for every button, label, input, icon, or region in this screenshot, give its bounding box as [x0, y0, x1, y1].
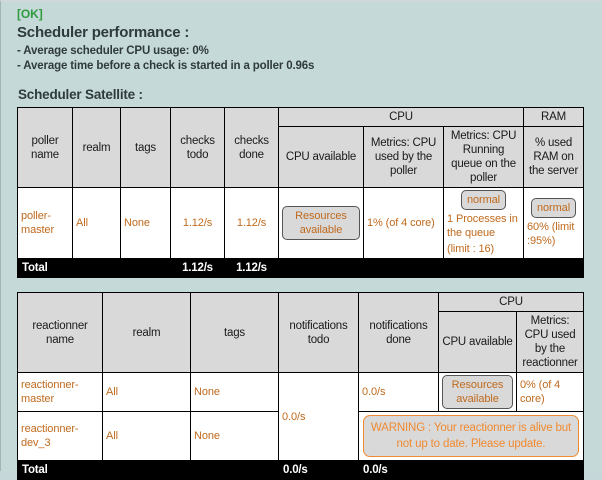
col-poller-name: poller name: [18, 108, 73, 188]
cell-ram-used: normal 60% (limit :95%): [524, 188, 584, 259]
cell-realm: All: [73, 188, 121, 259]
cell-tags: None: [121, 188, 171, 259]
cell-cpu-used: 1% (of 4 core): [364, 188, 444, 259]
table-total-row: Total 1.12/s 1.12/s: [18, 259, 584, 278]
total-realm-blank: [73, 259, 121, 278]
col-cpu-used-by-reactionner: Metrics: CPU used by the reactionner: [517, 312, 584, 373]
col-checks-done: checks done: [225, 108, 279, 188]
col-tags: tags: [121, 108, 171, 188]
cell-cpu-used: 0% (of 4 core): [517, 373, 584, 412]
col-realm: realm: [73, 108, 121, 188]
table-header-group-row: poller name realm tags checks todo check…: [18, 108, 584, 127]
total-ram-blank: [524, 259, 584, 278]
cell-cpu-available: Resources available: [279, 188, 364, 259]
col-realm: realm: [103, 293, 191, 373]
cpu-available-badge[interactable]: Resources available: [442, 375, 513, 409]
page-content: [OK] Scheduler performance : - Average s…: [1, 2, 602, 480]
total-tags-blank: [191, 461, 279, 480]
cell-checks-todo: 1.12/s: [171, 188, 225, 259]
total-cpu-available-blank: [279, 259, 364, 278]
total-checks-done: 1.12/s: [225, 259, 279, 278]
total-cpu-used-blank: [517, 461, 584, 480]
col-cpu-available: CPU available: [439, 312, 517, 373]
cell-cpu-available: Resources available: [439, 373, 517, 412]
total-tags-blank: [121, 259, 171, 278]
total-notifications-done: 0.0/s: [359, 461, 439, 480]
col-cpu-available: CPU available: [279, 127, 364, 188]
total-label: Total: [18, 461, 103, 480]
scheduler-line-avg-time: - Average time before a check is started…: [17, 59, 596, 74]
ram-used-text: 60% (limit :95%): [527, 220, 580, 248]
cell-realm: All: [103, 373, 191, 412]
satellite-section-title: Scheduler Satellite :: [18, 86, 596, 103]
scheduler-line-cpu-usage: - Average scheduler CPU usage: 0%: [17, 44, 596, 59]
col-checks-todo: checks todo: [171, 108, 225, 188]
group-col-cpu: CPU: [439, 293, 584, 312]
cell-notifications-todo: 0.0/s: [279, 373, 359, 461]
col-tags: tags: [191, 293, 279, 373]
table-row: poller-master All None 1.12/s 1.12/s Res…: [18, 188, 584, 259]
status-badge: [OK]: [17, 7, 596, 22]
cpu-available-badge[interactable]: Resources available: [282, 206, 360, 240]
cell-checks-done: 1.12/s: [225, 188, 279, 259]
cell-reactionner-name: reactionner-master: [18, 373, 103, 412]
col-notifications-todo: notifications todo: [279, 293, 359, 373]
table-total-row: Total 0.0/s 0.0/s: [18, 461, 584, 480]
cell-notifications-done: 0.0/s: [359, 373, 439, 412]
scheduler-satellite-table: poller name realm tags checks todo check…: [17, 107, 584, 278]
total-notifications-todo: 0.0/s: [279, 461, 359, 480]
col-ram-used: % used RAM on the server: [524, 127, 584, 188]
running-queue-badge-wrap: normal: [447, 190, 520, 210]
running-queue-limit-text: (limit : 16): [447, 242, 520, 256]
col-cpu-used-by-poller: Metrics: CPU used by the poller: [364, 127, 444, 188]
group-col-cpu: CPU: [279, 108, 524, 127]
page-root: [OK] Scheduler performance : - Average s…: [0, 0, 602, 471]
total-running-queue-blank: [444, 259, 524, 278]
cell-tags: None: [191, 412, 279, 461]
ram-badge-wrap: normal: [527, 198, 580, 218]
total-realm-blank: [103, 461, 191, 480]
cell-tags: None: [191, 373, 279, 412]
col-cpu-running-queue: Metrics: CPU Running queue on the poller: [444, 127, 524, 188]
running-queue-processes-text: 1 Processes in the queue: [447, 212, 520, 240]
cell-poller-name: poller-master: [18, 188, 73, 259]
col-reactionner-name: reactionner name: [18, 293, 103, 373]
reactionner-table: reactionner name realm tags notification…: [17, 292, 584, 480]
spacer: [17, 74, 596, 86]
cell-reactionner-name: reactionner-dev_3: [18, 412, 103, 461]
cell-realm: All: [103, 412, 191, 461]
total-cpu-available-blank: [439, 461, 517, 480]
total-checks-todo: 1.12/s: [171, 259, 225, 278]
ram-status-badge[interactable]: normal: [531, 198, 576, 218]
table-row: reactionner-master All None 0.0/s 0.0/s …: [18, 373, 584, 412]
col-notifications-done: notifications done: [359, 293, 439, 373]
table-header-group-row: reactionner name realm tags notification…: [18, 293, 584, 312]
running-queue-status-badge[interactable]: normal: [461, 190, 506, 210]
total-label: Total: [18, 259, 73, 278]
page-title: Scheduler performance :: [17, 23, 596, 42]
total-cpu-used-blank: [364, 259, 444, 278]
group-col-ram: RAM: [524, 108, 584, 127]
warning-message: WARNING : Your reactionner is alive but …: [363, 415, 579, 457]
cell-cpu-running-queue: normal 1 Processes in the queue (limit :…: [444, 188, 524, 259]
reactionner-table-wrap: reactionner name realm tags notification…: [17, 292, 596, 480]
cell-warning: WARNING : Your reactionner is alive but …: [359, 412, 584, 461]
